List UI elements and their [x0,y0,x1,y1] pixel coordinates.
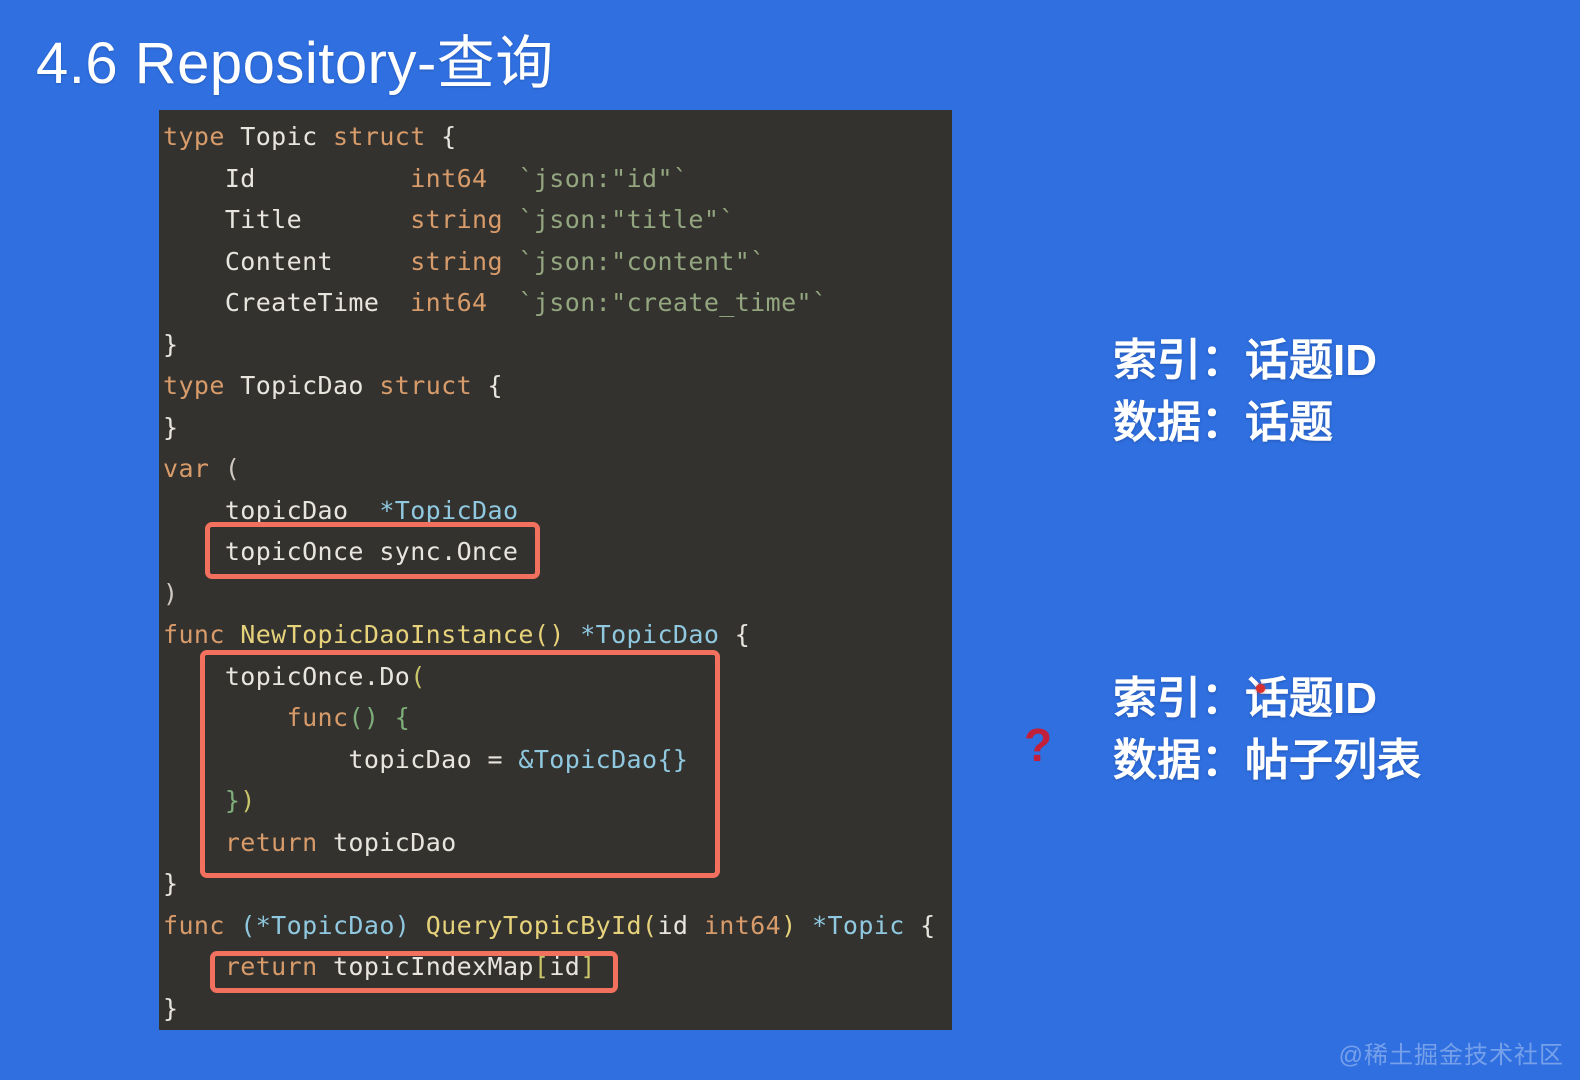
code-line: Title string `json:"title"` [159,199,952,241]
code-line: } [159,863,952,905]
cursor-dot-icon [1256,684,1265,693]
code-line: topicOnce.Do( [159,656,952,698]
code-line: Content string `json:"content"` [159,241,952,283]
watermark: @稀土掘金技术社区 [1339,1035,1564,1070]
code-line: } [159,324,952,366]
annotation-line-data: 数据：帖子列表 [1113,730,1421,792]
code-line: func (*TopicDao) QueryTopicById(id int64… [159,905,952,947]
code-line: }) [159,780,952,822]
code-line: } [159,988,952,1030]
code-line: var ( [159,448,952,490]
annotation-line-index: 索引：话题ID [1113,330,1377,392]
code-line: ) [159,573,952,615]
code-line: topicDao = &TopicDao{} [159,739,952,781]
code-line-topic-once: topicOnce sync.Once [159,531,952,573]
code-line: Id int64 `json:"id"` [159,158,952,200]
code-line: } [159,407,952,449]
code-listing: type Topic struct { Id int64 `json:"id"`… [159,116,952,1029]
code-line: type TopicDao struct { [159,365,952,407]
code-line: type Topic struct { [159,116,952,158]
code-line-query-return: return topicIndexMap[id] [159,946,952,988]
annotation-post-index: 索引：话题ID 数据：帖子列表 [1113,668,1421,792]
annotation-line-data: 数据：话题 [1113,392,1377,454]
code-line: func() { [159,697,952,739]
annotation-line-index: 索引：话题ID [1113,668,1421,730]
code-panel: type Topic struct { Id int64 `json:"id"`… [155,110,952,1030]
question-mark-icon: ? [1024,722,1052,768]
code-line: CreateTime int64 `json:"create_time"` [159,282,952,324]
code-line: return topicDao [159,822,952,864]
code-line: func NewTopicDaoInstance() *TopicDao { [159,614,952,656]
annotation-topic-index: 索引：话题ID 数据：话题 [1113,330,1377,454]
page-title: 4.6 Repository-查询 [36,16,554,100]
code-line: topicDao *TopicDao [159,490,952,532]
